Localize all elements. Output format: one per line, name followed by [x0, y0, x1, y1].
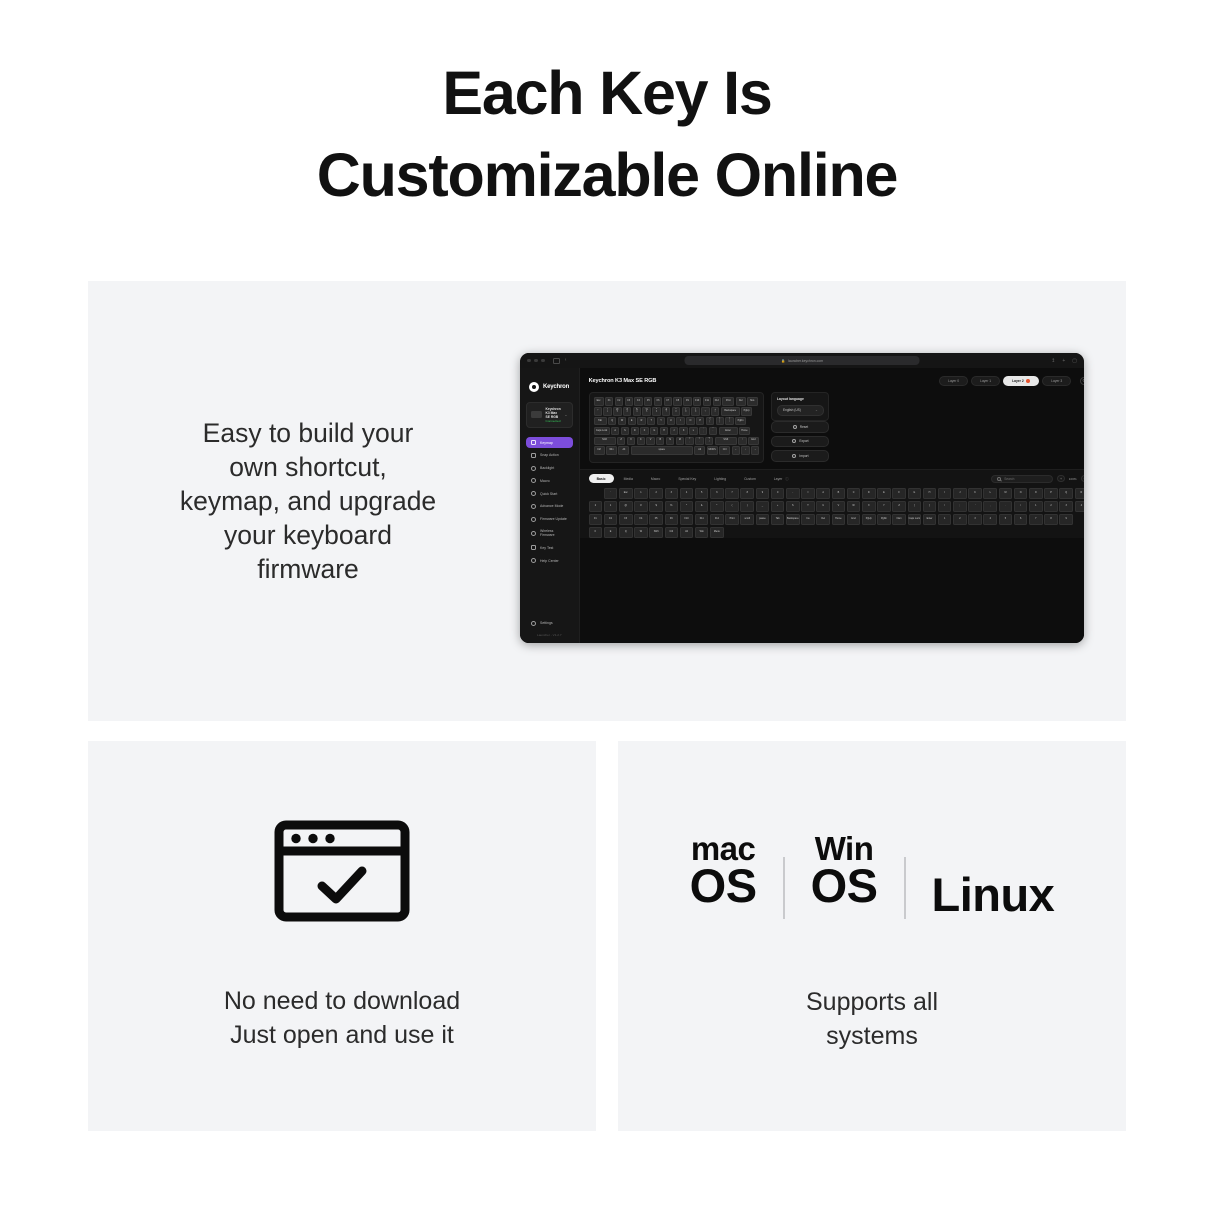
palette-key[interactable]: 3	[968, 514, 982, 526]
palette-key[interactable]: 1	[634, 488, 648, 500]
keyboard-key[interactable]: P	[696, 417, 704, 425]
key-legend-bottom: 4	[636, 411, 637, 414]
sidebar-item-macro[interactable]: Macro	[526, 475, 573, 487]
palette-key[interactable]: 4	[680, 488, 694, 500]
palette-key[interactable]: 9	[1059, 514, 1073, 526]
play-icon	[531, 491, 536, 496]
keyboard-key[interactable]: F5	[644, 397, 652, 405]
palette-key[interactable]: 1	[1029, 501, 1043, 513]
palette-key[interactable]: &	[695, 501, 709, 513]
palette-key[interactable]: E	[604, 527, 618, 539]
card-launcher-copy: Easy to build your own shortcut, keymap,…	[88, 416, 518, 586]
palette-key[interactable]: F12	[710, 514, 724, 526]
keyboard-key[interactable]: U	[667, 417, 675, 425]
sidebar-item-label: Keymap	[540, 441, 553, 445]
device-selector[interactable]: Keychron K3 Max SE RGB Connected ⌄	[526, 402, 573, 428]
export-button[interactable]: Export	[771, 436, 829, 448]
gear-icon	[531, 621, 536, 626]
back-chevron-icon[interactable]: ‹	[565, 358, 567, 363]
window-traffic-lights[interactable]	[527, 359, 545, 363]
palette-key[interactable]: pause	[756, 514, 770, 526]
keyboard-key[interactable]: I	[676, 417, 684, 425]
keyboard-key[interactable]: Ctrl	[594, 446, 605, 454]
palette-key[interactable]: PgDn	[877, 514, 891, 526]
sidebar-item-wireless-firmware[interactable]: Wireless Firmware	[526, 526, 573, 541]
layer-active-dot-icon	[1026, 379, 1030, 383]
palette-key[interactable]: 1	[938, 514, 952, 526]
layout-language-label: Layout language	[777, 397, 824, 401]
palette-key[interactable]: B	[832, 488, 846, 500]
keyboard-key[interactable]: ~`	[594, 407, 602, 415]
palette-key[interactable]: +	[771, 501, 785, 513]
palette-key[interactable]: `	[604, 488, 618, 500]
keyboard-key[interactable]: Shift	[715, 437, 737, 445]
keyboard-key[interactable]: T	[647, 417, 655, 425]
sidebar-item-label: Backlight	[540, 466, 554, 470]
palette-key[interactable]: ^	[680, 501, 694, 513]
keyboard-key[interactable]: F10	[693, 397, 701, 405]
key-palette: Basic Media Macro Special Key Lighting C…	[580, 469, 1084, 539]
keyboard-key[interactable]: ↑	[738, 437, 746, 445]
sidebar-item-keymap[interactable]: Keymap	[526, 437, 573, 449]
sidebar-item-settings[interactable]: Settings	[526, 617, 573, 629]
keyboard-key[interactable]: Esc	[594, 397, 604, 405]
palette-key[interactable]: '	[968, 501, 982, 513]
keyboard-key[interactable]: C	[637, 437, 645, 445]
os-logos: mac OS Win OS Linux	[690, 819, 1055, 923]
palette-key[interactable]: Home	[832, 514, 846, 526]
keyboard-key[interactable]: *8	[672, 407, 680, 415]
tab-layer-3[interactable]: Layer 3	[1042, 376, 1071, 386]
palette-key[interactable]: E	[877, 488, 891, 500]
palette-key[interactable]: F2	[604, 514, 618, 526]
sidebar-item-quick-start[interactable]: Quick Start	[526, 488, 573, 500]
palette-key[interactable]: Q	[619, 527, 633, 539]
browser-chrome: ‹ 🔒 launcher.keychron.com ↥ + ▢	[520, 353, 1084, 368]
palette-row: 21@#$%^&*()_+STUVWXYZ[]\;',./1234	[589, 501, 1084, 513]
address-bar[interactable]: 🔒 launcher.keychron.com	[685, 356, 920, 365]
app-body: Keychron Keychron K3 Max SE RGB Connecte…	[520, 368, 1084, 643]
keyboard-key[interactable]: @2	[613, 407, 621, 415]
keyboard-key[interactable]: F4	[634, 397, 642, 405]
keyboard-key[interactable]: A	[611, 427, 619, 435]
keyboard-key[interactable]: :;	[699, 427, 707, 435]
keyboard-key[interactable]: $4	[633, 407, 641, 415]
zoom-level: 100%	[1069, 477, 1077, 481]
palette-key[interactable]: Enter	[923, 514, 937, 526]
keyboard-key[interactable]: <,	[685, 437, 693, 445]
tab-layer[interactable]: Layer ⓘ	[766, 474, 797, 484]
keyboard-key[interactable]: F1	[605, 397, 613, 405]
tab-layer-2-label: Layer 2	[1012, 379, 1024, 383]
gear-icon[interactable]: ⚙	[1080, 377, 1084, 385]
key-legend-bottom: -	[705, 411, 706, 414]
sidebar-item-advance-mode[interactable]: Advance Mode	[526, 501, 573, 513]
palette-grid: `Esc1234567890-=ABCDEFGHIJKLMNOPQR 21@#$…	[589, 488, 1084, 539]
palette-key[interactable]: F11	[695, 514, 709, 526]
palette-key[interactable]: U	[816, 501, 830, 513]
palette-key[interactable]: -	[786, 488, 800, 500]
palette-key[interactable]: Tab	[771, 514, 785, 526]
keyboard-key[interactable]: {[	[706, 417, 714, 425]
info-icon: ⓘ	[785, 477, 788, 481]
keyboard-key[interactable]: PgDn	[735, 417, 746, 425]
palette-key[interactable]: K	[968, 488, 982, 500]
reset-button[interactable]: Reset	[771, 421, 829, 433]
keyboard-key[interactable]: Caps Lock	[594, 427, 610, 435]
palette-key[interactable]: ,	[983, 501, 997, 513]
caption-line-0: Supports all	[806, 985, 938, 1019]
keyboard-key[interactable]: K	[679, 427, 687, 435]
keyboard-key[interactable]: End	[748, 437, 759, 445]
keyboard-key[interactable]: F6	[654, 397, 662, 405]
palette-key[interactable]: 8	[1044, 514, 1058, 526]
palette-key[interactable]: Caps Lock	[908, 514, 922, 526]
key-legend-bottom: [	[710, 421, 711, 424]
tab-media[interactable]: Media	[616, 474, 641, 483]
device-thumbnail-icon	[531, 411, 542, 418]
os-winos: Win OS	[811, 834, 878, 908]
palette-key-empty	[725, 527, 739, 539]
tab-special-key[interactable]: Special Key	[670, 474, 704, 483]
palette-key[interactable]: F	[892, 488, 906, 500]
palette-key[interactable]: =	[801, 488, 815, 500]
app-version: Launcher - V1.2.7	[526, 629, 573, 643]
palette-key[interactable]: T	[801, 501, 815, 513]
palette-key[interactable]: D	[862, 488, 876, 500]
keyboard-key[interactable]: &7	[662, 407, 670, 415]
palette-key[interactable]: F1	[589, 514, 603, 526]
keyboard-key[interactable]: space	[631, 446, 693, 454]
keyboard-key[interactable]: MODS	[707, 446, 718, 454]
palette-key[interactable]: End	[847, 514, 861, 526]
keyboard-key[interactable]: O	[686, 417, 694, 425]
palette-key[interactable]: W	[847, 501, 861, 513]
palette-key[interactable]: 0	[771, 488, 785, 500]
palette-key[interactable]: [	[908, 501, 922, 513]
keyboard-row: ShiftZXCVBNM<,>.?/Shift↑End	[594, 437, 760, 445]
page-title: Each Key Is Customizable Online	[0, 0, 1214, 216]
promo-page: Each Key Is Customizable Online Easy to …	[0, 0, 1214, 1214]
keychron-logo-icon	[529, 382, 539, 392]
os-winos-suffix: OS	[811, 864, 878, 908]
palette-key[interactable]: /	[1014, 501, 1028, 513]
palette-key[interactable]: %	[665, 501, 679, 513]
keyboard-key[interactable]: X	[627, 437, 635, 445]
palette-key[interactable]: J	[953, 488, 967, 500]
keyboard-key[interactable]: Backspace	[721, 407, 740, 415]
palette-key[interactable]: (	[725, 501, 739, 513]
palette-key[interactable]: Ctrl	[665, 527, 679, 539]
launcher-app-screenshot: ‹ 🔒 launcher.keychron.com ↥ + ▢ Keychron	[520, 353, 1084, 643]
tabs-icon[interactable]: ▢	[1072, 358, 1077, 364]
download-icon	[531, 517, 536, 522]
keyboard-key[interactable]: |\	[725, 417, 733, 425]
browser-toolbar-right[interactable]: ↥ + ▢	[1051, 358, 1077, 364]
keyboard-key[interactable]: +=	[711, 407, 719, 415]
keyboard-key[interactable]: F12	[713, 397, 721, 405]
keyboard-key[interactable]: Tab	[594, 417, 607, 425]
new-tab-icon[interactable]: +	[1062, 358, 1065, 364]
keyboard-key[interactable]: M	[676, 437, 684, 445]
keyboard-key[interactable]: F9	[683, 397, 691, 405]
os-macos: mac OS	[690, 834, 757, 908]
palette-key[interactable]: 2	[589, 501, 603, 513]
keyboard-key[interactable]: B	[656, 437, 664, 445]
keyboard-key[interactable]: >.	[695, 437, 703, 445]
palette-key[interactable]: S	[786, 501, 800, 513]
tab-basic[interactable]: Basic	[589, 474, 614, 483]
palette-key[interactable]: .	[999, 501, 1013, 513]
device-meta: Keychron K3 Max SE RGB Connected	[546, 407, 561, 424]
palette-key[interactable]: #	[634, 501, 648, 513]
card-no-download: No need to download Just open and use it	[88, 741, 596, 1131]
keyboard-preview[interactable]: EscF1F2F3F4F5F6F7F8F9F10F11F12PrintDelMu…	[589, 392, 765, 462]
key-legend-bottom: .	[699, 441, 700, 444]
palette-key[interactable]: Menu	[710, 527, 724, 539]
key-legend-bottom: 1	[607, 411, 608, 414]
palette-key[interactable]: 3	[665, 488, 679, 500]
palette-key[interactable]: 4	[1075, 501, 1084, 513]
palette-key[interactable]: Y	[877, 501, 891, 513]
sidebar-item-help-center[interactable]: Help Center	[526, 555, 573, 567]
keyboard-key[interactable]: S	[621, 427, 629, 435]
sidebar-item-snap-action[interactable]: Snap Action	[526, 449, 573, 461]
tab-layer-0[interactable]: Layer 0	[939, 376, 968, 386]
palette-key[interactable]: 1	[604, 501, 618, 513]
copy-line-2: keymap, and upgrade	[98, 484, 518, 518]
palette-key[interactable]: N	[1014, 488, 1028, 500]
key-legend-bottom: =	[714, 411, 715, 414]
card-supported-systems: mac OS Win OS Linux Supports all systems	[618, 741, 1126, 1131]
palette-key[interactable]: Esc	[619, 488, 633, 500]
copy-line-4: firmware	[98, 552, 518, 586]
right-panel-actions: Reset Export Import	[771, 421, 829, 463]
palette-tabs: Basic Media Macro Special Key Lighting C…	[589, 474, 1084, 484]
palette-key[interactable]: Backspace	[786, 514, 800, 526]
gear-icon	[531, 504, 536, 509]
palette-key[interactable]: F6	[665, 514, 679, 526]
card-supported-systems-caption: Supports all systems	[806, 985, 938, 1053]
search-placeholder: Search	[1004, 477, 1014, 481]
keyboard-key[interactable]: Q	[608, 417, 616, 425]
import-button-label: Import	[799, 454, 808, 458]
zoom-in-icon[interactable]: +	[1057, 475, 1065, 483]
keyboard-key[interactable]: (9	[682, 407, 690, 415]
palette-key[interactable]: M	[999, 488, 1013, 500]
search-input[interactable]: Search	[991, 475, 1053, 483]
palette-key[interactable]: O	[1029, 488, 1043, 500]
keyboard-key[interactable]: V	[646, 437, 654, 445]
keyboard-key[interactable]: J	[670, 427, 678, 435]
palette-key[interactable]: ]	[923, 501, 937, 513]
keyboard-key[interactable]: L	[689, 427, 697, 435]
palette-key[interactable]: Win	[695, 527, 709, 539]
palette-key[interactable]: F3	[619, 514, 633, 526]
app-main: Keychron K3 Max SE RGB Layer 0 Layer 1 L…	[580, 368, 1084, 643]
keyboard-key[interactable]: _-	[701, 407, 709, 415]
palette-key[interactable]: I	[938, 488, 952, 500]
palette-key[interactable]: F	[589, 527, 603, 539]
palette-key[interactable]: Num	[892, 514, 906, 526]
palette-key[interactable]: 6	[710, 488, 724, 500]
keyboard-key[interactable]: F7	[664, 397, 672, 405]
tab-lighting[interactable]: Lighting	[706, 474, 734, 483]
keyboard-preview-row: EscF1F2F3F4F5F6F7F8F9F10F11F12PrintDelMu…	[589, 392, 1084, 462]
palette-key[interactable]: X	[862, 501, 876, 513]
keyboard-key[interactable]: H	[660, 427, 668, 435]
keyboard-key[interactable]: ^6	[652, 407, 660, 415]
palette-key[interactable]: Del	[816, 514, 830, 526]
palette-key[interactable]: 2	[953, 514, 967, 526]
keyboard-key[interactable]: Z	[617, 437, 625, 445]
palette-key[interactable]: R	[1075, 488, 1084, 500]
keyboard-key[interactable]: #3	[623, 407, 631, 415]
tab-layer-2[interactable]: Layer 2	[1003, 376, 1039, 386]
palette-key[interactable]: L	[983, 488, 997, 500]
macro-icon	[531, 478, 536, 483]
keyboard-key[interactable]: F11	[703, 397, 711, 405]
keyboard-key[interactable]: ?/	[705, 437, 713, 445]
palette-key[interactable]: F10	[680, 514, 694, 526]
palette-key[interactable]: 5	[695, 488, 709, 500]
keyboard-key[interactable]: Ctrl	[719, 446, 730, 454]
palette-key[interactable]: Q	[1059, 488, 1073, 500]
sidebar-toggle-icon[interactable]	[553, 358, 560, 364]
keyboard-row: ~`!1@2#3$4%5^6&7*8(9)0_-+=BackspacePgUp	[594, 407, 760, 415]
palette-key[interactable]: Print	[725, 514, 739, 526]
page-title-line2: Customizable Online	[0, 134, 1214, 216]
caption-line-1: systems	[806, 1019, 938, 1053]
keyboard-row: TabQWERTYUIOP{[}]|\PgDn	[594, 417, 760, 425]
keyboard-key[interactable]: )0	[691, 407, 699, 415]
keyboard-key[interactable]: Del	[736, 397, 746, 405]
sidebar-item-backlight[interactable]: Backlight	[526, 462, 573, 474]
palette-key[interactable]: PgUp	[862, 514, 876, 526]
keyboard-key[interactable]: Win	[606, 446, 617, 454]
palette-key[interactable]: P	[1044, 488, 1058, 500]
right-panel: Layout language English (US) ⌄ Reset	[771, 392, 829, 462]
keyboard-key[interactable]: D	[631, 427, 639, 435]
palette-key[interactable]: 7	[725, 488, 739, 500]
palette-key[interactable]: Shift	[649, 527, 663, 539]
palette-key[interactable]: 7	[1029, 514, 1043, 526]
palette-key[interactable]: 6	[1014, 514, 1028, 526]
key-legend-bottom: ;	[703, 431, 704, 434]
brand-logo: Keychron	[529, 382, 573, 392]
keyboard-key[interactable]: R	[637, 417, 645, 425]
keyboard-key[interactable]: "'	[709, 427, 717, 435]
layout-language-select[interactable]: English (US) ⌄	[777, 405, 824, 416]
sidebar-item-label: Macro	[540, 479, 550, 483]
palette-key[interactable]: 4	[983, 514, 997, 526]
keyboard-key[interactable]: F	[640, 427, 648, 435]
keyboard-key[interactable]: %5	[642, 407, 650, 415]
palette-key[interactable]: V	[832, 501, 846, 513]
keyboard-key[interactable]: Alt	[618, 446, 629, 454]
palette-key[interactable]: $	[649, 501, 663, 513]
palette-key[interactable]: H	[923, 488, 937, 500]
palette-key[interactable]: Ins	[801, 514, 815, 526]
palette-key[interactable]: 2	[1044, 501, 1058, 513]
palette-key[interactable]: F4	[634, 514, 648, 526]
sidebar-item-key-test[interactable]: Key Test	[526, 542, 573, 554]
keyboard-key[interactable]: !1	[603, 407, 611, 415]
keyboard-key[interactable]: F8	[673, 397, 681, 405]
palette-key[interactable]: _	[756, 501, 770, 513]
palette-key[interactable]: 3	[1059, 501, 1073, 513]
tab-macro[interactable]: Macro	[643, 474, 668, 483]
keyboard-key[interactable]: Alt	[694, 446, 705, 454]
tab-layer-1[interactable]: Layer 1	[971, 376, 1000, 386]
export-icon	[792, 439, 796, 443]
chevron-down-icon[interactable]: ⌄	[564, 413, 567, 417]
palette-key[interactable]: A	[816, 488, 830, 500]
keyboard-key[interactable]: W	[618, 417, 626, 425]
palette-row: F1F2F3F4F5F6F10F11F12PrintscrollpauseTab…	[589, 514, 1084, 526]
keyboard-key[interactable]: ↓	[741, 446, 749, 454]
keyboard-key[interactable]: →	[751, 446, 759, 454]
keyboard-key[interactable]: N	[666, 437, 674, 445]
palette-key[interactable]: 9	[756, 488, 770, 500]
palette-key[interactable]: W	[634, 527, 648, 539]
keyboard-key[interactable]: Shift	[594, 437, 616, 445]
keyboard-key[interactable]: Home	[739, 427, 750, 435]
sidebar-item-firmware-update[interactable]: Firmware Update	[526, 513, 573, 525]
palette-key[interactable]: )	[740, 501, 754, 513]
keyboard-key[interactable]: ←	[732, 446, 740, 454]
keyboard-key[interactable]: Y	[657, 417, 665, 425]
share-icon[interactable]: ↥	[1051, 358, 1055, 364]
keyboard-key[interactable]: Print	[722, 397, 734, 405]
palette-key[interactable]: *	[710, 501, 724, 513]
palette-key[interactable]: \	[938, 501, 952, 513]
palette-key[interactable]: @	[619, 501, 633, 513]
tab-custom[interactable]: Custom	[736, 474, 764, 483]
palette-key[interactable]: C	[847, 488, 861, 500]
keyboard-icon	[531, 440, 536, 445]
keyboard-key[interactable]: G	[650, 427, 658, 435]
keyboard-row: CtrlWinAltspaceAltMODSCtrl←↓→	[594, 446, 760, 454]
palette-key[interactable]: Z	[892, 501, 906, 513]
import-button[interactable]: Import	[771, 450, 829, 462]
keyboard-title: Keychron K3 Max SE RGB	[589, 378, 657, 384]
help-icon	[531, 558, 536, 563]
sidebar-item-label: Firmware Update	[540, 517, 567, 521]
palette-key[interactable]: 2	[649, 488, 663, 500]
palette-key[interactable]: scroll	[740, 514, 754, 526]
palette-tools: Search + 100% −	[991, 475, 1084, 483]
copy-line-0: Easy to build your	[98, 416, 518, 450]
palette-key[interactable]: G	[908, 488, 922, 500]
palette-key[interactable]: Alt	[680, 527, 694, 539]
palette-key[interactable]: 5	[999, 514, 1013, 526]
palette-key[interactable]: F5	[649, 514, 663, 526]
keyboard-key[interactable]: F3	[625, 397, 633, 405]
palette-key[interactable]: 8	[740, 488, 754, 500]
keyboard-key[interactable]: Enter	[719, 427, 738, 435]
palette-key[interactable]: ;	[953, 501, 967, 513]
key-legend-bottom: 7	[666, 411, 667, 414]
import-icon	[792, 454, 796, 458]
keyboard-key[interactable]: Mut.	[747, 397, 758, 405]
zoom-out-icon[interactable]: −	[1081, 475, 1084, 483]
keyboard-key[interactable]: E	[628, 417, 636, 425]
keyboard-key[interactable]: }]	[716, 417, 724, 425]
keyboard-key[interactable]: PgUp	[741, 407, 752, 415]
keyboard-key[interactable]: F2	[615, 397, 623, 405]
copy-line-1: own shortcut,	[98, 450, 518, 484]
